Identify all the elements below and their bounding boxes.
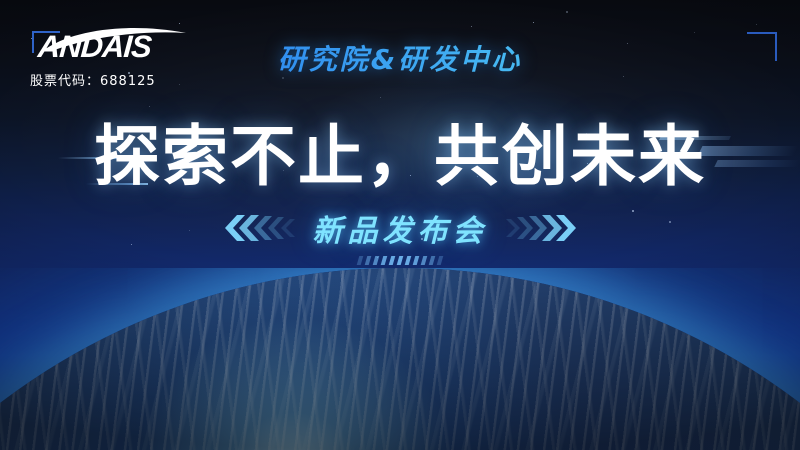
page-header-title: 研究院&研发中心 <box>0 38 800 78</box>
chevron-right-group <box>504 213 576 243</box>
page-title: 探索不止，共创未来 <box>0 118 800 196</box>
earth-horizon <box>0 268 800 450</box>
earth-limb-glow <box>0 268 800 450</box>
tick-mark <box>437 256 444 265</box>
tick-mark <box>421 256 428 265</box>
tick-mark <box>373 256 380 265</box>
subtitle-banner: 新品发布会 <box>0 206 800 250</box>
tick-decor-row <box>0 256 800 265</box>
tick-mark <box>381 256 388 265</box>
presentation-slide: ANDAIS 股票代码：688125 研究院&研发中心 探索不止，共创未来 <box>0 0 800 450</box>
chevron-right-icon <box>504 213 576 243</box>
tick-mark <box>405 256 412 265</box>
tick-mark <box>389 256 396 265</box>
subtitle-text: 新品发布会 <box>307 206 494 250</box>
chevron-left-group <box>225 213 297 243</box>
tick-mark <box>397 256 404 265</box>
tick-mark <box>365 256 372 265</box>
tick-mark <box>413 256 420 265</box>
chevron-left-icon <box>225 213 297 243</box>
tick-mark <box>357 256 364 265</box>
tick-mark <box>429 256 436 265</box>
